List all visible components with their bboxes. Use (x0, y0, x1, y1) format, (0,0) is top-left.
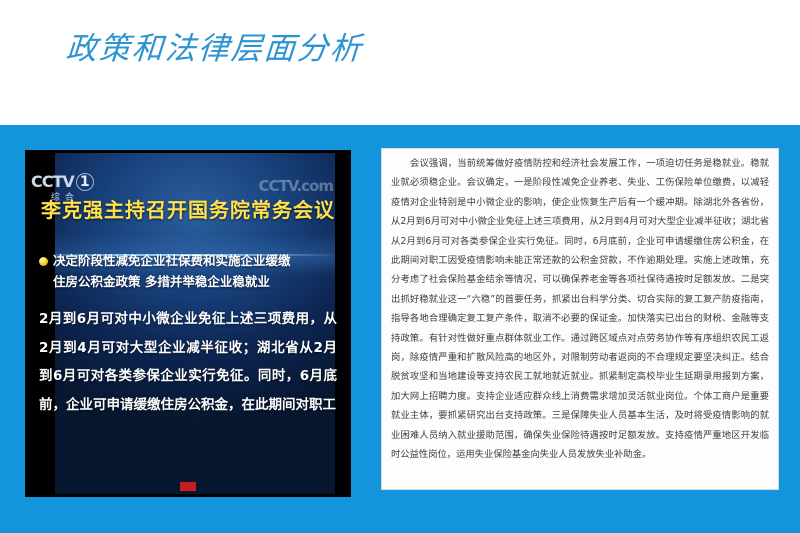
tv-red-marker (180, 482, 196, 491)
news-subtitle-line-1: 决定阶段性减免企业社保费和实施企业缓缴 (35, 250, 341, 271)
bullet-dot-icon (39, 257, 48, 266)
content-band: CCTV 1 综合 CCTV.com 李克强主持召开国务院常务会议 决定阶段性减… (0, 125, 800, 533)
cctv-logo-row: CCTV 1 (31, 173, 94, 191)
letterbox-bar-top (25, 150, 351, 153)
cctv-channel-number: 1 (76, 173, 94, 191)
page-title: 政策和法律层面分析 (64, 27, 364, 71)
news-subtitle-line-1-text: 决定阶段性减免企业社保费和实施企业缓缴 (53, 253, 291, 268)
news-body-text: 2月到6月可对中小微企业免征上述三项费用，从2月到4月可对大型企业减半征收；湖北… (39, 305, 337, 419)
document-body-paragraph: 会议强调，当前统筹做好疫情防控和经济社会发展工作，一项迫切任务是稳就业。稳就业就… (391, 154, 769, 465)
cctv-dot-com-watermark: CCTV.com (259, 177, 333, 195)
presentation-slide: 政策和法律层面分析 CCTV 1 综合 CCTV.com 李克强主持召开 (0, 0, 800, 533)
news-subtitle: 决定阶段性减免企业社保费和实施企业缓缴 住房公积金政策 多措并举稳企业稳就业 (35, 250, 341, 292)
news-headline: 李克强主持召开国务院常务会议 (25, 194, 351, 223)
document-text-panel: 会议强调，当前统筹做好疫情防控和经济社会发展工作，一项迫切任务是稳就业。稳就业就… (381, 148, 779, 490)
letterbox-bar-bottom (25, 494, 351, 497)
cctv-news-screenshot-image: CCTV 1 综合 CCTV.com 李克强主持召开国务院常务会议 决定阶段性减… (25, 150, 351, 497)
cctv-wordmark-icon: CCTV (31, 174, 74, 190)
news-subtitle-line-2: 住房公积金政策 多措并举稳企业稳就业 (35, 271, 341, 292)
